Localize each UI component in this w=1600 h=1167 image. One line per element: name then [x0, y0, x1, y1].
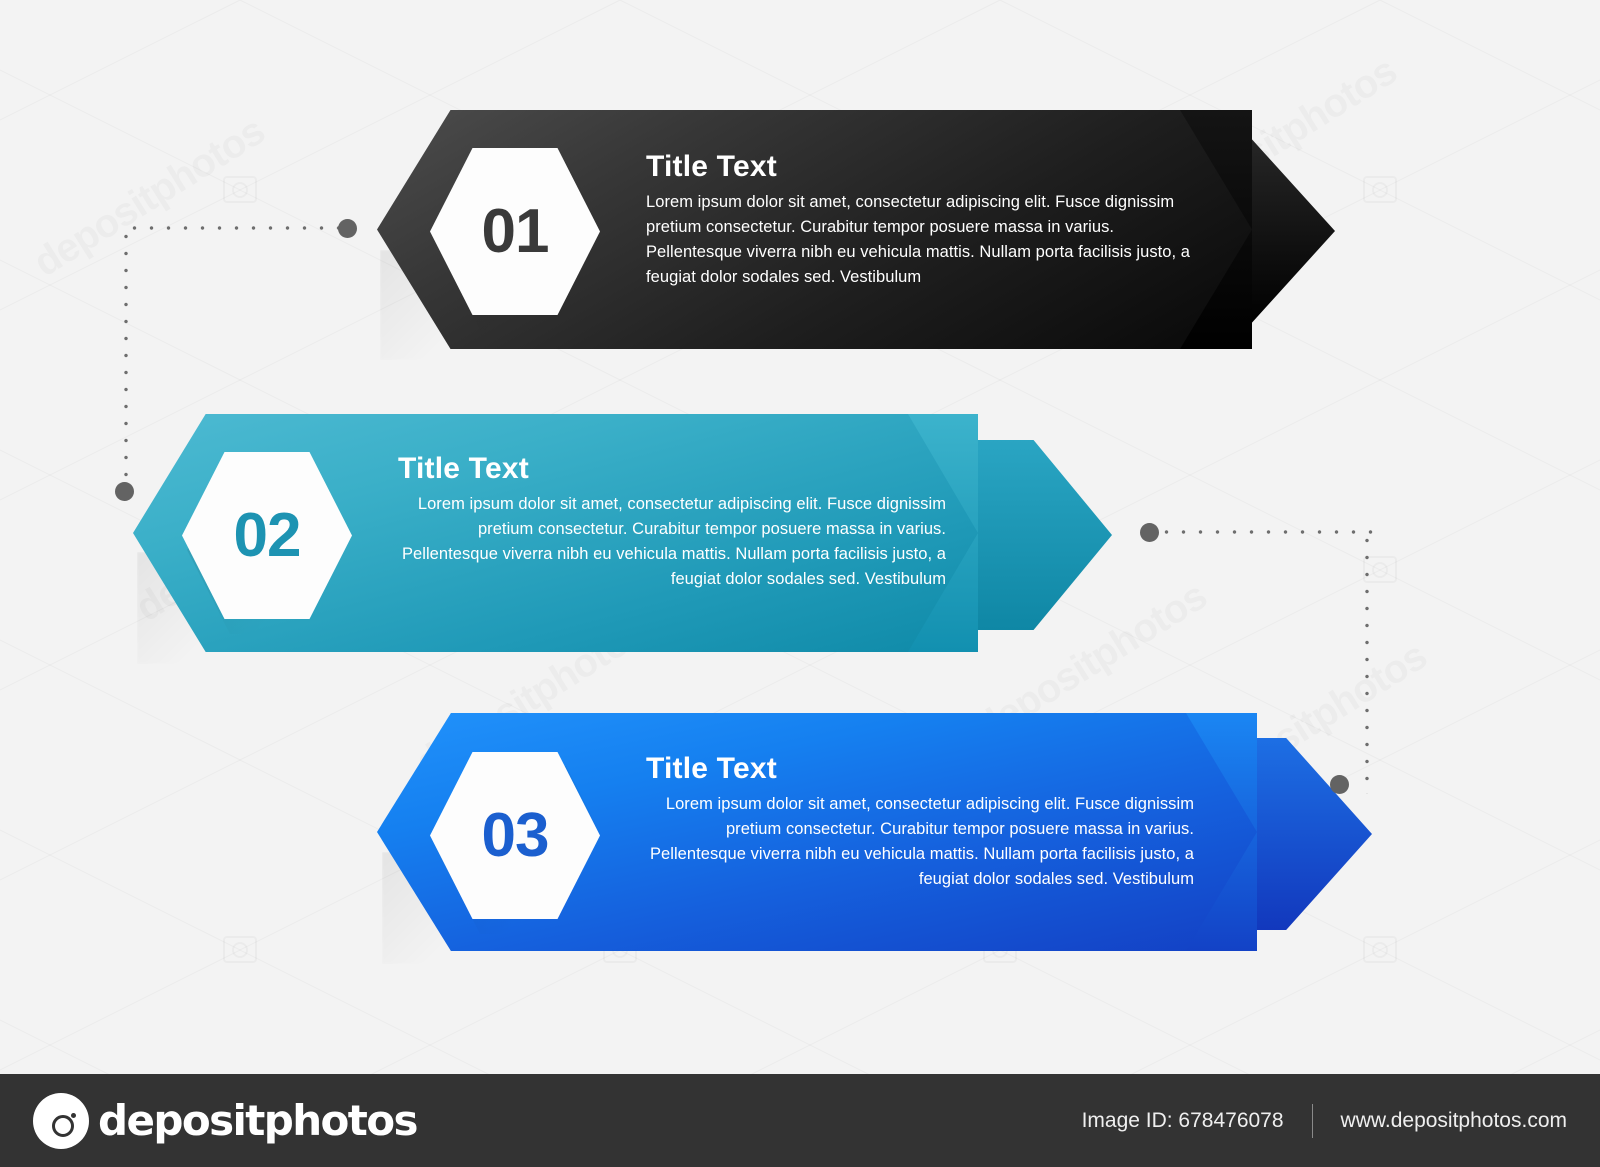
brand-lockup: depositphotos — [33, 1093, 417, 1149]
connector-node-mid-left — [1140, 523, 1159, 542]
step-3-body: Lorem ipsum dolor sit amet, consectetur … — [646, 792, 1194, 892]
brand-name: depositphotos — [98, 1096, 417, 1145]
step-row-3[interactable]: 03 Title Text Lorem ipsum dolor sit amet… — [0, 0, 1600, 1000]
step-3-number: 03 — [482, 805, 549, 867]
website-link[interactable]: www.depositphotos.com — [1341, 1109, 1567, 1133]
connector-1-horizontal — [126, 226, 354, 230]
camera-icon — [33, 1093, 89, 1149]
footer-divider — [1312, 1104, 1313, 1138]
connector-node-top-right — [338, 219, 357, 238]
image-id-label: Image ID: 678476078 — [1082, 1109, 1284, 1133]
step-3-title: Title Text — [646, 752, 1194, 785]
step-3-text-block: Title Text Lorem ipsum dolor sit amet, c… — [646, 752, 1194, 892]
infographic-canvas: depositphotos depositphotos depositphoto… — [0, 0, 1600, 1167]
connector-2-horizontal — [1158, 530, 1373, 534]
connector-node-bottom-right — [1330, 775, 1349, 794]
connector-2-vertical — [1365, 532, 1369, 794]
connector-1-vertical — [124, 228, 128, 496]
footer-meta: Image ID: 678476078 www.depositphotos.co… — [1082, 1104, 1567, 1138]
connector-node-bottom-left — [115, 482, 134, 501]
footer-bar: depositphotos Image ID: 678476078 www.de… — [0, 1074, 1600, 1167]
